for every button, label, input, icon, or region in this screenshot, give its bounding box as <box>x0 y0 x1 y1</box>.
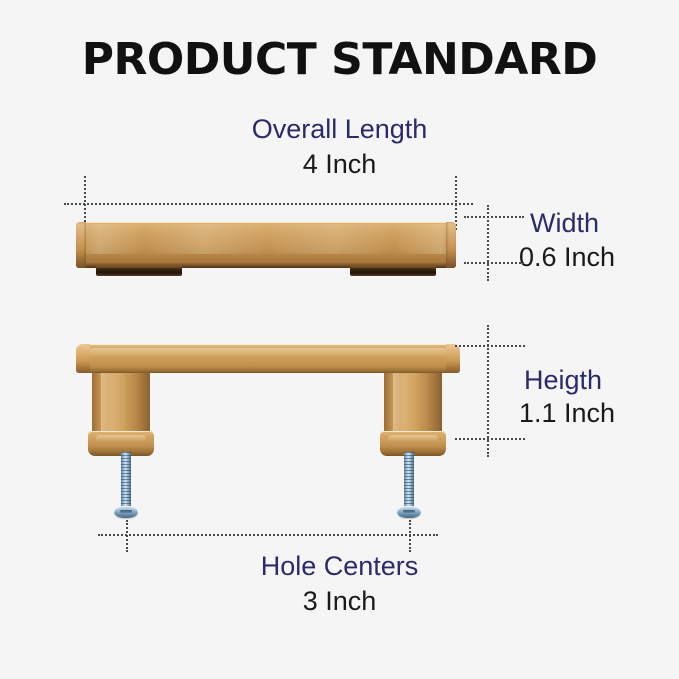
leg-highlight <box>101 373 111 435</box>
screw-slot <box>120 510 132 513</box>
hole-centers-tick-right <box>409 520 411 552</box>
width-value: 0.6 Inch <box>519 242 615 273</box>
product-standard-diagram: PRODUCT STANDARD Overall Length 4 Inch W… <box>0 0 679 679</box>
handle-side-foot-left <box>96 266 182 276</box>
width-label: Width <box>530 208 599 239</box>
handle-front-view <box>76 344 460 456</box>
screw-head <box>114 506 138 518</box>
mounting-screw-right <box>402 452 416 520</box>
handle-front-left-end <box>76 344 90 373</box>
mounting-screw-left <box>119 452 133 520</box>
overall-length-label: Overall Length <box>0 114 679 145</box>
hole-centers-label: Hole Centers <box>0 551 679 582</box>
handle-leg-left <box>88 373 154 456</box>
height-tick-bottom <box>455 438 525 440</box>
overall-length-dimension-line <box>64 203 473 205</box>
handle-side-foot-right <box>350 266 436 276</box>
leg-base-highlight <box>388 435 438 442</box>
leg-base-highlight <box>96 435 146 442</box>
screw-shaft <box>404 452 414 510</box>
width-tick-bottom <box>464 262 524 264</box>
handle-leg-left-post <box>92 373 150 435</box>
handle-front-right-end <box>446 344 460 373</box>
width-tick-top <box>464 216 524 218</box>
handle-leg-right <box>380 373 446 456</box>
hole-centers-value: 3 Inch <box>0 586 679 617</box>
handle-leg-right-post <box>384 373 442 435</box>
hole-centers-dimension-line <box>98 534 438 536</box>
handle-side-left-end <box>76 222 86 268</box>
screw-shaft <box>121 452 131 510</box>
brushed-metal-sheen <box>76 224 456 254</box>
handle-front-bar <box>76 344 460 373</box>
page-title: PRODUCT STANDARD <box>0 34 679 85</box>
handle-side-view <box>76 222 456 268</box>
handle-side-right-end <box>446 222 456 268</box>
overall-length-value: 4 Inch <box>0 149 679 180</box>
leg-highlight <box>393 373 403 435</box>
screw-head <box>397 506 421 518</box>
screw-slot <box>403 510 415 513</box>
handle-side-bar <box>76 222 456 268</box>
height-tick-top <box>455 345 525 347</box>
hole-centers-tick-left <box>126 520 128 552</box>
height-label: Heigth <box>524 365 602 396</box>
height-value: 1.1 Inch <box>519 398 615 429</box>
handle-front-bar-highlight <box>90 348 446 357</box>
